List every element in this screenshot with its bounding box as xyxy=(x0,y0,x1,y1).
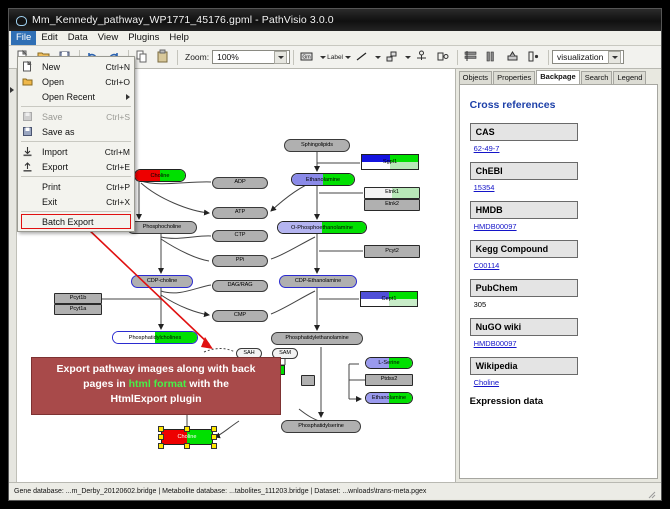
node-atp[interactable]: ATP xyxy=(212,207,268,219)
menu-item-open-label: Open xyxy=(42,77,64,87)
node-cmp[interactable]: CMP xyxy=(212,310,268,322)
db-header-chebi: ChEBI xyxy=(470,162,578,180)
interaction-tool-button[interactable] xyxy=(383,48,402,67)
resize-handle[interactable] xyxy=(158,443,164,449)
menu-item-save-accel: Ctrl+S xyxy=(106,112,130,122)
shape-tool-button[interactable]: Grn xyxy=(298,48,317,67)
menu-item-print[interactable]: Print Ctrl+P xyxy=(18,179,134,194)
menu-separator xyxy=(21,211,131,212)
import-icon xyxy=(22,146,33,157)
shape-dropdown-icon[interactable] xyxy=(318,51,327,64)
menu-separator xyxy=(21,176,131,177)
menu-item-import-label: Import xyxy=(42,147,68,157)
menu-item-save: Save Ctrl+S xyxy=(18,109,134,124)
tab-search[interactable]: Search xyxy=(581,71,613,84)
node-phosphocholine[interactable]: Phosphocholine xyxy=(127,221,197,234)
menu-item-save-label: Save xyxy=(42,112,63,122)
node-etnk2[interactable]: Etnk2 xyxy=(364,199,420,211)
resize-handle[interactable] xyxy=(158,434,164,440)
menu-item-print-label: Print xyxy=(42,182,61,192)
node-o-phosphoethanolamine[interactable]: O-Phosphoethanolamine xyxy=(277,221,367,234)
node-phosphatidylserine[interactable]: Phosphatidylserine xyxy=(281,420,361,433)
menu-item-new-label: New xyxy=(42,62,60,72)
canvas-ruler xyxy=(9,69,17,482)
menu-item-import[interactable]: Import Ctrl+M xyxy=(18,144,134,159)
node-sgpl1[interactable]: Sgpl1 xyxy=(361,154,419,170)
node-ptdss2[interactable]: Ptdss2 xyxy=(365,374,413,386)
svg-text:Grn: Grn xyxy=(302,54,311,60)
db-header-pubchem: PubChem xyxy=(470,279,578,297)
node-pcyt2[interactable]: Pcyt2 xyxy=(364,245,420,258)
pathvisio-icon xyxy=(15,14,27,26)
menu-item-export[interactable]: Export Ctrl+E xyxy=(18,159,134,174)
save-as-icon xyxy=(22,126,33,137)
resize-handle[interactable] xyxy=(158,426,164,432)
batch-export-highlight xyxy=(21,214,131,229)
line-tool-button[interactable] xyxy=(353,48,372,67)
cross-references-title: Cross references xyxy=(470,99,647,111)
menu-data[interactable]: Data xyxy=(63,31,93,45)
menu-item-exit[interactable]: Exit Ctrl+X xyxy=(18,194,134,209)
menu-item-open-accel: Ctrl+O xyxy=(105,77,130,87)
window-title: Mm_Kennedy_pathway_WP1771_45176.gpml - P… xyxy=(32,14,334,26)
db-header-hmdb: HMDB xyxy=(470,201,578,219)
resize-handle[interactable] xyxy=(211,443,217,449)
db-value-hmdb[interactable]: HMDB00097 xyxy=(474,222,647,231)
menu-edit[interactable]: Edit xyxy=(36,31,62,45)
menu-view[interactable]: View xyxy=(93,31,123,45)
stack-button[interactable] xyxy=(504,48,523,67)
sidebar-tabs: Objects Properties Backpage Search Legen… xyxy=(456,69,661,84)
label-tool-label: Label xyxy=(327,54,343,61)
chevron-down-icon[interactable] xyxy=(608,51,621,64)
tab-legend[interactable]: Legend xyxy=(613,71,646,84)
db-value-chebi[interactable]: 15354 xyxy=(474,183,647,192)
callout-line-2: pages in html format with the xyxy=(38,377,274,392)
resize-handle[interactable] xyxy=(184,443,190,449)
node-phosphatidylcholines[interactable]: Phosphatidylcholines xyxy=(112,331,198,344)
visualization-value: visualization xyxy=(557,52,603,62)
menu-item-new[interactable]: New Ctrl+N xyxy=(18,59,134,74)
backpage-panel: Cross references CAS 62-49-7 ChEBI 15354… xyxy=(459,84,658,479)
tab-objects[interactable]: Objects xyxy=(459,71,492,84)
menu-item-open[interactable]: Open Ctrl+O xyxy=(18,74,134,89)
node-cdp-ethanolamine[interactable]: CDP-Ethanolamine xyxy=(279,275,357,288)
callout-line-3: HtmlExport plugin xyxy=(38,392,274,407)
interaction-dropdown-icon[interactable] xyxy=(403,51,412,64)
paste-button[interactable] xyxy=(154,48,173,67)
zoom-value: 100% xyxy=(217,52,239,62)
chevron-down-icon[interactable] xyxy=(274,51,287,64)
zoom-combo[interactable]: 100% xyxy=(212,50,290,64)
node-choline-selected[interactable]: Choline xyxy=(161,429,213,445)
node-etnk1[interactable]: Etnk1 xyxy=(364,187,420,199)
menu-plugins[interactable]: Plugins xyxy=(123,31,164,45)
menu-item-import-accel: Ctrl+M xyxy=(105,147,130,157)
node-small-gray-box[interactable] xyxy=(301,375,315,386)
resize-grip[interactable] xyxy=(646,486,656,496)
db-header-nugo-wiki: NuGO wiki xyxy=(470,318,578,336)
node-ctp[interactable]: CTP xyxy=(212,230,268,242)
node-pcyt1b[interactable]: Pcyt1b xyxy=(54,293,102,304)
open-folder-icon xyxy=(22,76,33,87)
menu-item-save-as[interactable]: Save as xyxy=(18,124,134,139)
menu-item-open-recent-label: Open Recent xyxy=(42,92,95,102)
pathvisio-window: Mm_Kennedy_pathway_WP1771_45176.gpml - P… xyxy=(8,8,662,501)
db-value-wikipedia[interactable]: Choline xyxy=(474,378,647,387)
label-dropdown-icon[interactable] xyxy=(343,51,352,64)
node-l-serine[interactable]: L-Serine xyxy=(365,357,413,369)
resize-handle[interactable] xyxy=(184,426,190,432)
node-cdp-choline[interactable]: CDP-choline xyxy=(131,275,193,288)
visualization-combo[interactable]: visualization xyxy=(552,50,624,64)
menu-item-print-accel: Ctrl+P xyxy=(106,182,130,192)
menu-item-exit-label: Exit xyxy=(42,197,57,207)
menu-separator xyxy=(21,106,131,107)
resize-handle[interactable] xyxy=(211,434,217,440)
menu-separator xyxy=(21,141,131,142)
state-tool-button[interactable] xyxy=(434,48,453,67)
node-cept1[interactable]: Cept1 xyxy=(360,291,418,307)
menu-item-export-label: Export xyxy=(42,162,68,172)
node-sphingolipids[interactable]: Sphingolipids xyxy=(284,139,350,152)
group-button[interactable] xyxy=(525,48,544,67)
copy-button[interactable] xyxy=(133,48,152,67)
menu-item-export-accel: Ctrl+E xyxy=(106,162,130,172)
db-header-kegg-compound: Kegg Compound xyxy=(470,240,578,258)
tab-properties[interactable]: Properties xyxy=(493,71,535,84)
sidebar: Objects Properties Backpage Search Legen… xyxy=(456,69,661,482)
anchor-tool-button[interactable] xyxy=(413,48,432,67)
node-dag-rag[interactable]: DAG/RAG xyxy=(212,280,268,292)
callout-box: Export pathway images along with back pa… xyxy=(31,357,281,415)
line-dropdown-icon[interactable] xyxy=(373,51,382,64)
callout-highlight: html format xyxy=(129,378,187,390)
title-bar: Mm_Kennedy_pathway_WP1771_45176.gpml - P… xyxy=(9,9,661,31)
menu-item-new-accel: Ctrl+N xyxy=(106,62,130,72)
status-bar: Gene database: ...m_Derby_20120602.bridg… xyxy=(9,482,661,499)
menu-item-exit-accel: Ctrl+X xyxy=(106,197,130,207)
db-value-pubchem: 305 xyxy=(474,300,647,309)
tab-backpage[interactable]: Backpage xyxy=(536,70,579,84)
node-ppi[interactable]: PPi xyxy=(212,255,268,267)
menu-help[interactable]: Help xyxy=(164,31,194,45)
node-adp[interactable]: ADP xyxy=(212,177,268,189)
menu-item-open-recent[interactable]: Open Recent xyxy=(18,89,134,104)
node-ethanolamine-top[interactable]: Ethanolamine xyxy=(291,173,355,186)
db-header-cas: CAS xyxy=(470,123,578,141)
align-columns-button[interactable] xyxy=(483,48,502,67)
db-value-nugo-wiki[interactable]: HMDB00097 xyxy=(474,339,647,348)
status-text: Gene database: ...m_Derby_20120602.bridg… xyxy=(14,488,426,495)
menu-bar: File Edit Data View Plugins Help xyxy=(9,31,661,46)
save-disk-icon xyxy=(22,111,33,122)
node-choline[interactable]: Choline xyxy=(134,169,186,182)
callout-line-2-pre: pages in xyxy=(83,378,129,390)
callout-line-2-post: with the xyxy=(186,378,229,390)
db-value-kegg-compound[interactable]: C00114 xyxy=(474,261,647,270)
db-value-cas[interactable]: 62-49-7 xyxy=(474,144,647,153)
file-menu-dropdown[interactable]: New Ctrl+N Open Ctrl+O Open Recent Save … xyxy=(17,56,135,232)
menu-item-save-as-label: Save as xyxy=(42,127,75,137)
new-file-icon xyxy=(22,61,33,72)
db-header-wikipedia: Wikipedia xyxy=(470,357,578,375)
align-rows-button[interactable] xyxy=(462,48,481,67)
zoom-label: Zoom: xyxy=(185,52,209,62)
menu-file[interactable]: File xyxy=(11,31,36,45)
export-icon xyxy=(22,161,33,172)
node-ethanolamine-bottom[interactable]: Ethanolamine xyxy=(365,392,413,404)
node-phosphatidylethanolamine[interactable]: Phosphatidylethanolamine xyxy=(271,332,363,345)
callout-line-1: Export pathway images along with back xyxy=(38,362,274,377)
expression-data-title: Expression data xyxy=(470,396,647,407)
node-pcyt1a[interactable]: Pcyt1a xyxy=(54,304,102,315)
submenu-arrow-icon xyxy=(126,94,130,100)
resize-handle[interactable] xyxy=(211,426,217,432)
